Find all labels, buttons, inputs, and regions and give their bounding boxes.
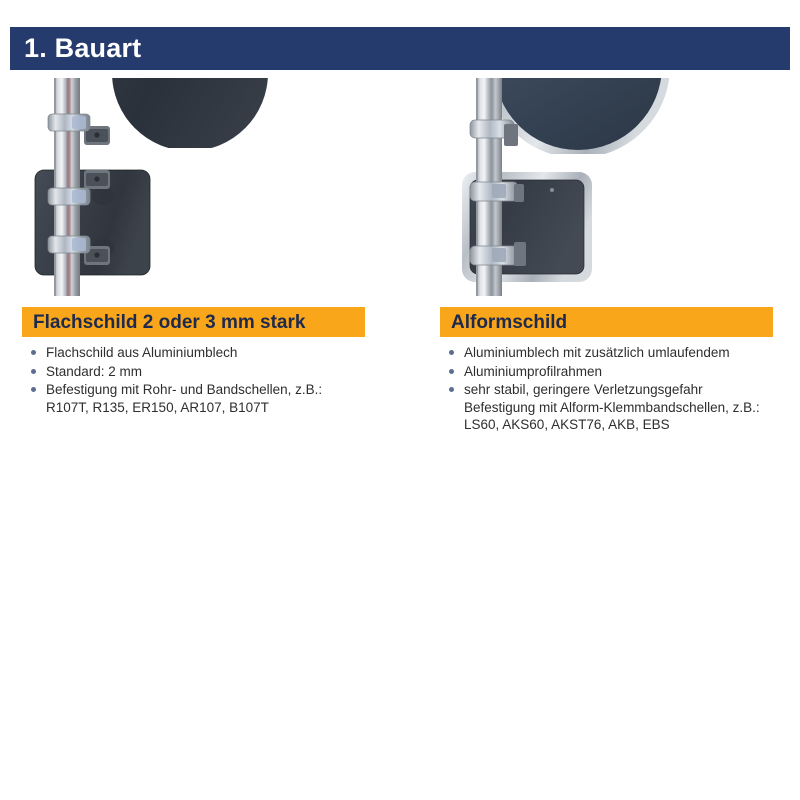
caption-label-flachschild: Flachschild 2 oder 3 mm stark <box>33 313 305 332</box>
bullet-dot-icon <box>31 350 36 355</box>
list-item: Aluminiumprofilrahmen <box>449 363 799 381</box>
list-item: Befestigung mit Rohr- und Bandschellen, … <box>31 381 381 416</box>
section-title: 1. Bauart <box>24 35 141 62</box>
page-root: 1. Bauart <box>0 0 800 800</box>
bullet-dot-icon <box>31 387 36 392</box>
bullet-line: Aluminiumprofilrahmen <box>464 363 799 381</box>
figure-flachschild <box>10 78 400 296</box>
caption-bar-flachschild: Flachschild 2 oder 3 mm stark <box>22 307 365 337</box>
section-header-bar: 1. Bauart <box>10 27 790 70</box>
bullet-line: Befestigung mit Alform-Klemmbandschellen… <box>464 399 799 417</box>
bullet-line: Flachschild aus Aluminiumblech <box>46 344 381 362</box>
bullet-list-flachschild: Flachschild aus Aluminiumblech Standard:… <box>31 344 381 416</box>
bullet-dot-icon <box>449 387 454 392</box>
bullet-line: Aluminiumblech mit zusätzlich umlaufende… <box>464 344 799 362</box>
bullet-list-alformschild: Aluminiumblech mit zusätzlich umlaufende… <box>449 344 799 434</box>
figure-alformschild <box>430 78 800 296</box>
alform-sign-on-pole-photo <box>430 78 800 296</box>
bullet-dot-icon <box>31 369 36 374</box>
list-item: Flachschild aus Aluminiumblech <box>31 344 381 362</box>
bullet-dot-icon <box>449 369 454 374</box>
list-item: Aluminiumblech mit zusätzlich umlaufende… <box>449 344 799 362</box>
bullet-line: Standard: 2 mm <box>46 363 381 381</box>
bullet-dot-icon <box>449 350 454 355</box>
flat-sign-on-pole-photo <box>10 78 400 296</box>
bullet-line: Befestigung mit Rohr- und Bandschellen, … <box>46 381 381 399</box>
column-flachschild: Flachschild 2 oder 3 mm stark Flachschil… <box>10 78 400 417</box>
list-item: sehr stabil, geringere Verletzungsgefahr… <box>449 381 799 434</box>
list-item: Standard: 2 mm <box>31 363 381 381</box>
column-alformschild: Alformschild Aluminiumblech mit zusätzli… <box>430 78 800 435</box>
bullet-line: R107T, R135, ER150, AR107, B107T <box>46 399 381 417</box>
bullet-line: sehr stabil, geringere Verletzungsgefahr <box>464 381 799 399</box>
caption-label-alformschild: Alformschild <box>451 313 567 332</box>
caption-bar-alformschild: Alformschild <box>440 307 773 337</box>
bullet-line: LS60, AKS60, AKST76, AKB, EBS <box>464 416 799 434</box>
